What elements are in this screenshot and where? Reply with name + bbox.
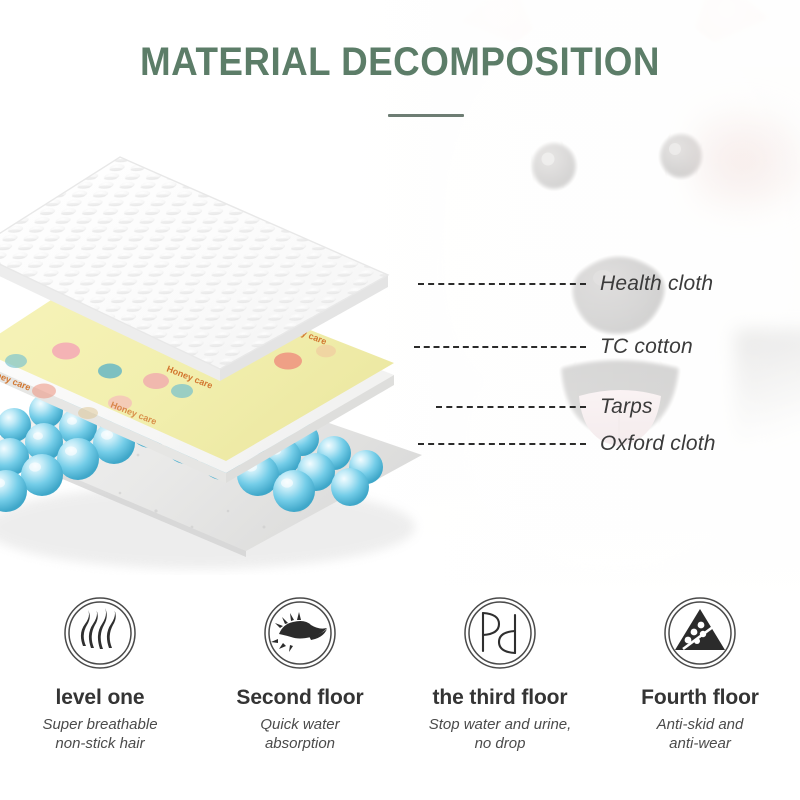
- feature-caption: Stop water and urine, no drop: [429, 715, 572, 753]
- feature-row: level one Super breathable non-stick hai…: [0, 596, 800, 753]
- callout-label: TC cotton: [600, 335, 693, 359]
- material-layer-diagram: Honey care Honey care Honey care Honey c…: [0, 155, 470, 575]
- feature-caption: Quick water absorption: [260, 715, 339, 753]
- waterproof-pd-icon: [463, 596, 537, 670]
- leader-line: [418, 283, 586, 285]
- breathability-waves-icon: [63, 596, 137, 670]
- leader-line: [414, 346, 586, 348]
- callout-tc-cotton: TC cotton: [414, 335, 693, 359]
- feature-heading: the third floor: [433, 686, 568, 710]
- callout-label: Health cloth: [600, 272, 713, 296]
- anti-skid-triangle-icon: [663, 596, 737, 670]
- feature-fourth-floor: Fourth floor Anti-skid and anti-wear: [600, 596, 800, 753]
- callout-label: Tarps: [600, 395, 653, 419]
- leader-line: [436, 406, 586, 408]
- callout-tarps: Tarps: [436, 395, 653, 419]
- feature-heading: Fourth floor: [641, 686, 759, 710]
- feature-third-floor: the third floor Stop water and urine, no…: [400, 596, 600, 753]
- callout-health-cloth: Health cloth: [418, 272, 713, 296]
- title-divider: [388, 114, 464, 117]
- leader-line: [418, 443, 586, 445]
- callout-oxford-cloth: Oxford cloth: [418, 432, 716, 456]
- feature-caption: Anti-skid and anti-wear: [657, 715, 744, 753]
- feature-caption: Super breathable non-stick hair: [42, 715, 157, 753]
- feature-level-one: level one Super breathable non-stick hai…: [0, 596, 200, 753]
- page-title: MATERIAL DECOMPOSITION: [32, 40, 768, 85]
- feature-heading: Second floor: [236, 686, 363, 710]
- callout-label: Oxford cloth: [600, 432, 716, 456]
- feature-second-floor: Second floor Quick water absorption: [200, 596, 400, 753]
- background-blur-warm: [690, 95, 800, 225]
- infographic-page: MATERIAL DECOMPOSITION: [0, 0, 800, 800]
- background-blur-cool: [735, 330, 800, 470]
- feather-icon: [263, 596, 337, 670]
- feature-heading: level one: [56, 686, 145, 710]
